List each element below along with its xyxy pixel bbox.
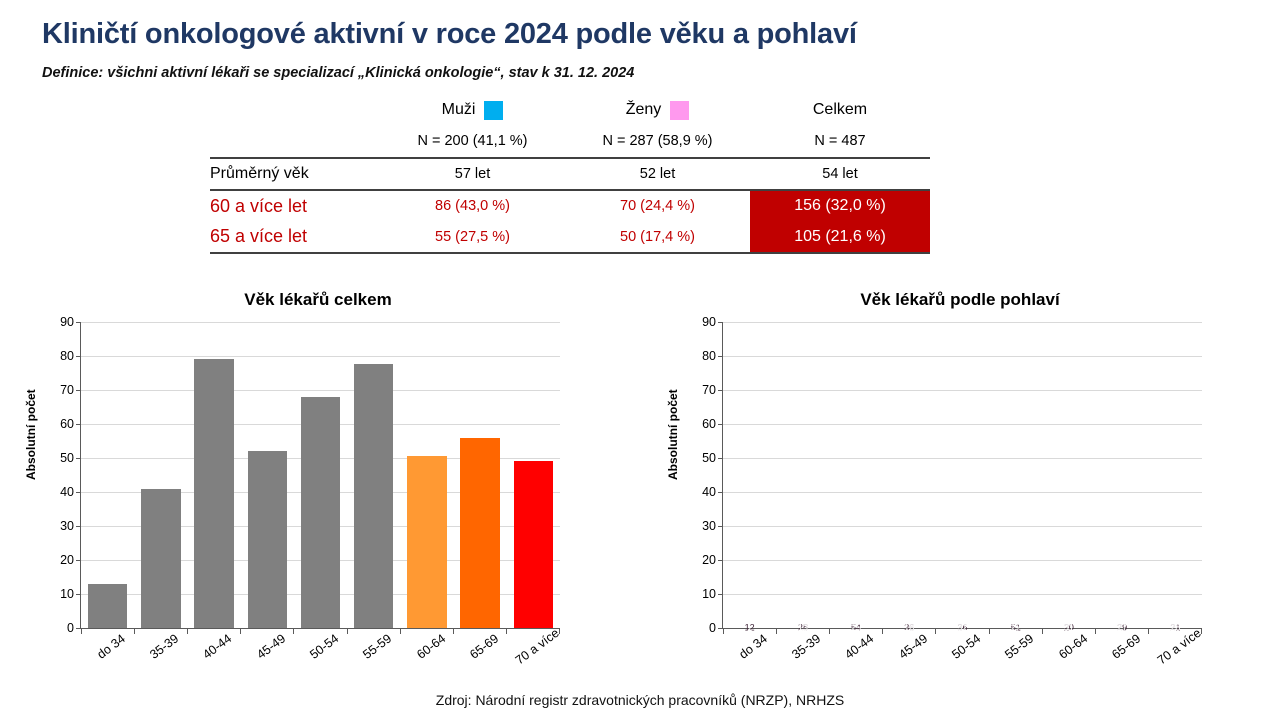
x-axis-tick-mark <box>883 628 936 634</box>
bar-group[interactable]: 2813 <box>776 322 829 628</box>
chart-by-sex-plot: 0102030405060708090 12128135425361636325… <box>722 322 1202 629</box>
bar-group[interactable] <box>294 322 347 628</box>
chart-total: Věk lékařů celkem Absolutní počet 010203… <box>18 290 618 690</box>
x-axis-tick-mark <box>936 628 989 634</box>
bar[interactable] <box>354 364 393 628</box>
age-65plus-total: 105 (21,6 %) <box>750 221 930 252</box>
x-axis-label-slot: 50-54 <box>935 635 988 695</box>
bar[interactable] <box>248 451 287 628</box>
x-axis-label-slot: 45-49 <box>882 635 935 695</box>
rule-seg <box>750 252 930 253</box>
average-age-men: 57 let <box>380 158 565 189</box>
x-axis-label-slot: do 34 <box>80 635 133 695</box>
x-axis-tick-label: 35-39 <box>789 631 823 661</box>
y-axis-tick-label: 0 <box>682 621 716 635</box>
y-axis-tick-label: 10 <box>40 587 74 601</box>
x-axis-label-slot: 70 a více <box>1149 635 1202 695</box>
y-axis-tick-label: 60 <box>40 417 74 431</box>
chart-total-xlabels: do 3435-3940-4445-4950-5455-5960-6465-69… <box>80 635 560 695</box>
bar-group[interactable] <box>454 322 507 628</box>
bar-group[interactable]: 3616 <box>883 322 936 628</box>
average-age-total: 54 let <box>750 158 930 189</box>
x-axis-tick-mark <box>241 628 294 634</box>
y-axis-tick-label: 30 <box>40 519 74 533</box>
bar-group[interactable] <box>187 322 240 628</box>
bar-group[interactable]: 121 <box>723 322 776 628</box>
x-axis-tick-mark <box>401 628 454 634</box>
bar-group[interactable]: 5425 <box>829 322 882 628</box>
x-axis-label-slot: 55-59 <box>989 635 1042 695</box>
y-axis-tick-label: 40 <box>40 485 74 499</box>
bar[interactable] <box>460 438 499 628</box>
bar[interactable] <box>301 397 340 628</box>
x-axis-label-slot: 65-69 <box>1095 635 1148 695</box>
x-axis-tick-label: 65-69 <box>1109 631 1143 661</box>
y-axis-tick-label: 60 <box>682 417 716 431</box>
y-axis-tick-label: 90 <box>40 315 74 329</box>
y-axis-tick-label: 10 <box>682 587 716 601</box>
x-axis-tick-mark <box>454 628 507 634</box>
bar-group[interactable]: 2031 <box>1042 322 1095 628</box>
header-cell-total: Celkem <box>750 96 930 124</box>
x-axis-tick-mark <box>135 628 188 634</box>
x-axis-tick-label: 65-69 <box>467 631 501 661</box>
x-axis-tick-label: 50-54 <box>949 631 983 661</box>
bar-group[interactable] <box>400 322 453 628</box>
chart-total-ylabel: Absolutní počet <box>24 389 38 480</box>
x-axis-tick-mark <box>188 628 241 634</box>
chart-by-sex-xlabels: do 3435-3940-4445-4950-5455-5960-6465-69… <box>722 635 1202 695</box>
rule-seg <box>565 252 750 253</box>
age-60plus-total: 156 (32,0 %) <box>750 190 930 221</box>
x-axis-label-slot: 50-54 <box>293 635 346 695</box>
x-axis-tick-label: 35-39 <box>147 631 181 661</box>
header-cell-women: Ženy <box>565 96 750 124</box>
chart-total-title: Věk lékařů celkem <box>18 290 618 310</box>
page-title: Kliničtí onkologové aktivní v roce 2024 … <box>42 18 857 51</box>
x-axis-label-slot: 35-39 <box>775 635 828 695</box>
summary-table: Muži Ženy Celkem N = 200 (41,1 %) <box>210 96 930 254</box>
x-axis-label-slot: 65-69 <box>453 635 506 695</box>
x-axis-tick-mark <box>348 628 401 634</box>
x-axis-label-slot: 40-44 <box>829 635 882 695</box>
age-60plus-women: 70 (24,4 %) <box>565 190 750 221</box>
x-axis-tick-label: 50-54 <box>307 631 341 661</box>
age-65plus-women: 50 (17,4 %) <box>565 221 750 252</box>
chart-total-bars <box>81 322 560 628</box>
bar[interactable] <box>141 489 180 628</box>
bar-group[interactable] <box>81 322 134 628</box>
row-label-average-age: Průměrný věk <box>210 158 380 189</box>
x-axis-tick-label: do 34 <box>736 632 769 662</box>
x-axis-tick-label: 55-59 <box>361 631 395 661</box>
n-total: N = 487 <box>750 124 930 157</box>
header-cell-blank <box>210 96 380 124</box>
page-subtitle: Definice: všichni aktivní lékaři se spec… <box>42 65 634 81</box>
x-axis-tick-mark <box>294 628 347 634</box>
x-axis-label-slot: 55-59 <box>347 635 400 695</box>
chart-total-xtickmarks <box>81 628 560 634</box>
age-65plus-men: 55 (27,5 %) <box>380 221 565 252</box>
chart-by-sex-ylabel: Absolutní počet <box>666 389 680 480</box>
x-axis-label-slot: 60-64 <box>1042 635 1095 695</box>
bar-group[interactable]: 3632 <box>936 322 989 628</box>
bar-group[interactable] <box>347 322 400 628</box>
x-axis-label-slot: 60-64 <box>400 635 453 695</box>
x-axis-tick-mark <box>777 628 830 634</box>
header-label-women: Ženy <box>626 101 662 119</box>
x-axis-tick-mark <box>1096 628 1149 634</box>
row-label-age-60plus: 60 a více let <box>210 190 380 221</box>
bar-group[interactable]: 2927 <box>1096 322 1149 628</box>
header-cell-men: Muži <box>380 96 565 124</box>
x-axis-label-slot: 70 a více <box>507 635 560 695</box>
header-label-men: Muži <box>442 101 476 119</box>
x-axis-label-slot: 40-44 <box>187 635 240 695</box>
table-row-age-60plus: 60 a více let 86 (43,0 %) 70 (24,4 %) 15… <box>210 190 930 221</box>
table-header-row: Muži Ženy Celkem <box>210 96 930 124</box>
y-axis-tick-label: 40 <box>682 485 716 499</box>
y-axis-tick-label: 50 <box>40 451 74 465</box>
bar[interactable] <box>514 461 553 628</box>
y-axis-tick-label: 80 <box>682 349 716 363</box>
y-axis-tick-label: 90 <box>682 315 716 329</box>
x-axis-tick-mark <box>723 628 777 634</box>
x-axis-tick-label: do 34 <box>94 632 127 662</box>
legend-swatch-women-icon <box>670 101 689 120</box>
bar-group[interactable]: 2128 <box>1149 322 1202 628</box>
x-axis-label-slot: 35-39 <box>133 635 186 695</box>
table-row-age-65plus: 65 a více let 55 (27,5 %) 50 (17,4 %) 10… <box>210 221 930 252</box>
n-women: N = 287 (58,9 %) <box>565 124 750 157</box>
x-axis-tick-label: 40-44 <box>843 631 877 661</box>
n-row-blank <box>210 124 380 157</box>
y-axis-tick-label: 30 <box>682 519 716 533</box>
bar[interactable] <box>194 359 233 628</box>
bar-group[interactable] <box>507 322 560 628</box>
average-age-women: 52 let <box>565 158 750 189</box>
x-axis-label-slot: do 34 <box>722 635 775 695</box>
bar-group[interactable]: 5127 <box>989 322 1042 628</box>
chart-by-sex-title: Věk lékařů podle pohlaví <box>660 290 1260 310</box>
x-axis-tick-mark <box>81 628 135 634</box>
x-axis-tick-label: 55-59 <box>1003 631 1037 661</box>
bar-group[interactable] <box>241 322 294 628</box>
x-axis-tick-mark <box>830 628 883 634</box>
bar[interactable] <box>407 456 446 628</box>
x-axis-tick-mark <box>990 628 1043 634</box>
bar[interactable] <box>88 584 127 628</box>
legend-swatch-men-icon <box>484 101 503 120</box>
y-axis-tick-label: 80 <box>40 349 74 363</box>
x-axis-tick-mark <box>1043 628 1096 634</box>
chart-total-plot: 0102030405060708090 <box>80 322 560 629</box>
x-axis-tick-label: 40-44 <box>201 631 235 661</box>
x-axis-tick-label: 60-64 <box>1056 631 1090 661</box>
y-axis-tick-label: 20 <box>40 553 74 567</box>
chart-by-sex: Věk lékařů podle pohlaví Absolutní počet… <box>660 290 1260 690</box>
table-row-average-age: Průměrný věk 57 let 52 let 54 let <box>210 158 930 189</box>
y-axis-tick-label: 70 <box>682 383 716 397</box>
x-axis-label-slot: 45-49 <box>240 635 293 695</box>
bar-group[interactable] <box>134 322 187 628</box>
source-note: Zdroj: Národní registr zdravotnických pr… <box>0 692 1280 708</box>
rule-seg <box>380 252 565 253</box>
row-label-age-65plus: 65 a více let <box>210 221 380 252</box>
age-60plus-men: 86 (43,0 %) <box>380 190 565 221</box>
table-n-row: N = 200 (41,1 %) N = 287 (58,9 %) N = 48… <box>210 124 930 157</box>
x-axis-tick-label: 60-64 <box>414 631 448 661</box>
y-axis-tick-label: 50 <box>682 451 716 465</box>
n-men: N = 200 (41,1 %) <box>380 124 565 157</box>
chart-by-sex-xtickmarks <box>723 628 1202 634</box>
x-axis-tick-label: 45-49 <box>254 631 288 661</box>
y-axis-tick-label: 0 <box>40 621 74 635</box>
table-rule-3 <box>210 252 930 253</box>
x-axis-tick-label: 45-49 <box>896 631 930 661</box>
y-axis-tick-label: 70 <box>40 383 74 397</box>
y-axis-tick-label: 20 <box>682 553 716 567</box>
chart-by-sex-bars: 12128135425361636325127203129272128 <box>723 322 1202 628</box>
rule-seg <box>210 252 380 253</box>
slide-root: Kliničtí onkologové aktivní v roce 2024 … <box>0 0 1280 720</box>
